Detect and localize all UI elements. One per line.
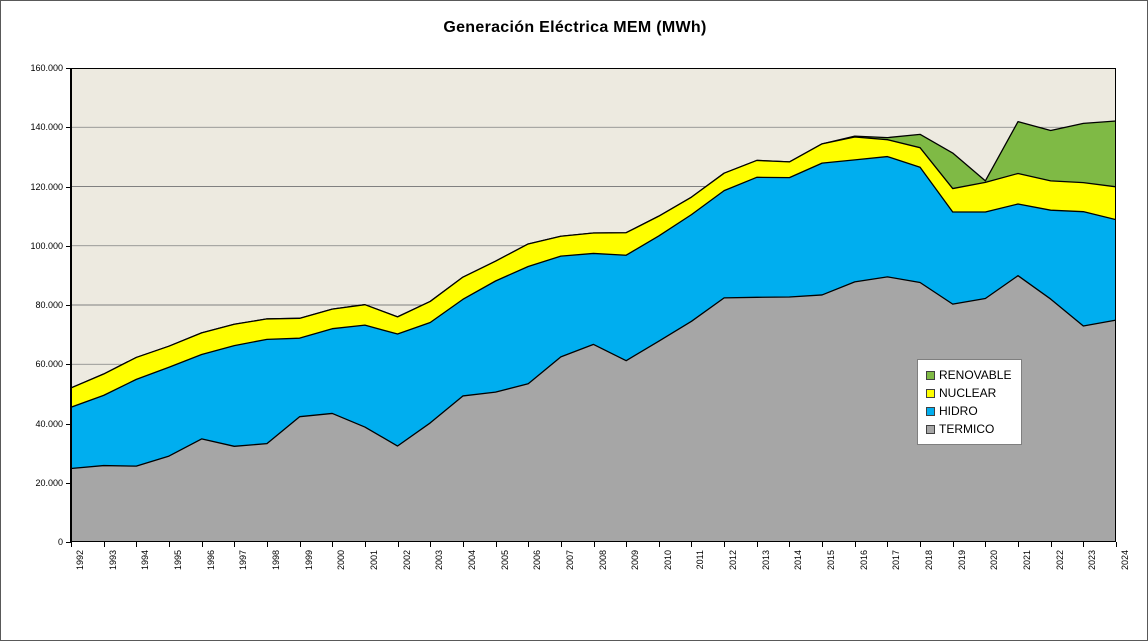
x-axis-label: 2007 [565,550,575,570]
x-axis-label: 1994 [140,550,150,570]
x-axis-tick [202,542,203,547]
x-axis-label: 2011 [695,550,705,569]
x-axis-label: 1993 [108,550,118,570]
x-axis-tick [1116,542,1117,547]
x-axis-label: 2009 [630,550,640,570]
x-axis-tick [169,542,170,547]
x-axis-label: 2017 [891,550,901,570]
y-axis-label: 40.000 [0,419,63,429]
legend-item[interactable]: RENOVABLE [926,366,1011,384]
x-axis-label: 2016 [859,550,869,570]
x-axis-tick [1051,542,1052,547]
x-axis-tick [626,542,627,547]
x-axis-tick [724,542,725,547]
x-axis-tick [332,542,333,547]
x-axis-label: 2004 [467,550,477,570]
x-axis-tick [594,542,595,547]
x-axis-tick [398,542,399,547]
legend-swatch-icon [926,389,935,398]
legend-label: NUCLEAR [939,386,996,400]
x-axis-label: 2024 [1120,550,1130,570]
x-axis-tick [953,542,954,547]
x-axis-tick [1083,542,1084,547]
y-axis-label: 0 [0,537,63,547]
x-axis-tick [136,542,137,547]
x-axis-tick [234,542,235,547]
x-axis-tick [1018,542,1019,547]
legend-item[interactable]: HIDRO [926,402,1011,420]
x-axis-label: 1998 [271,550,281,570]
x-axis-label: 2022 [1055,550,1065,570]
x-axis-label: 2005 [500,550,510,570]
x-axis-tick [430,542,431,547]
y-axis-label: 140.000 [0,122,63,132]
x-axis-label: 2019 [957,550,967,570]
x-axis-label: 2021 [1022,550,1032,570]
x-axis-tick [463,542,464,547]
x-axis-label: 1992 [75,550,85,570]
x-axis-label: 2015 [826,550,836,570]
x-axis-tick [822,542,823,547]
x-axis-tick [887,542,888,547]
x-axis-label: 1996 [206,550,216,570]
x-axis-tick [561,542,562,547]
chart-legend: RENOVABLENUCLEARHIDROTERMICO [917,359,1022,445]
legend-label: RENOVABLE [939,368,1011,382]
legend-swatch-icon [926,371,935,380]
x-axis-label: 2008 [598,550,608,570]
plot-area [71,68,1116,542]
x-axis-tick [71,542,72,547]
y-axis-label: 160.000 [0,63,63,73]
legend-item[interactable]: NUCLEAR [926,384,1011,402]
legend-item[interactable]: TERMICO [926,420,1011,438]
x-axis-label: 2013 [761,550,771,570]
x-axis-label: 2023 [1087,550,1097,570]
x-axis-tick [789,542,790,547]
x-axis-tick [104,542,105,547]
x-axis-label: 1997 [238,550,248,570]
legend-swatch-icon [926,407,935,416]
y-axis-label: 80.000 [0,300,63,310]
x-axis-label: 2002 [402,550,412,570]
x-axis-tick [528,542,529,547]
x-axis-label: 1995 [173,550,183,570]
x-axis-tick [691,542,692,547]
x-axis-tick [365,542,366,547]
y-axis-label: 20.000 [0,478,63,488]
x-axis-label: 2000 [336,550,346,570]
chart-page: Generación Eléctrica MEM (MWh) 020.00040… [0,0,1148,641]
x-axis-tick [757,542,758,547]
x-axis-label: 2006 [532,550,542,570]
x-axis-label: 2012 [728,550,738,570]
x-axis-tick [659,542,660,547]
x-axis-tick [267,542,268,547]
y-axis-label: 120.000 [0,182,63,192]
y-axis-label: 100.000 [0,241,63,251]
x-axis-tick [496,542,497,547]
x-axis-tick [855,542,856,547]
x-axis-tick [920,542,921,547]
stacked-area-chart [71,68,1116,542]
y-axis-label: 60.000 [0,359,63,369]
x-axis-label: 2020 [989,550,999,570]
x-axis-label: 2003 [434,550,444,570]
x-axis-tick [985,542,986,547]
x-axis-label: 2010 [663,550,673,570]
x-axis-label: 1999 [304,550,314,570]
legend-label: HIDRO [939,404,978,418]
x-axis-label: 2001 [369,550,379,570]
x-axis-label: 2014 [793,550,803,570]
legend-swatch-icon [926,425,935,434]
legend-label: TERMICO [939,422,994,436]
page-title: Generación Eléctrica MEM (MWh) [1,19,1148,37]
x-axis-tick [300,542,301,547]
x-axis-label: 2018 [924,550,934,570]
